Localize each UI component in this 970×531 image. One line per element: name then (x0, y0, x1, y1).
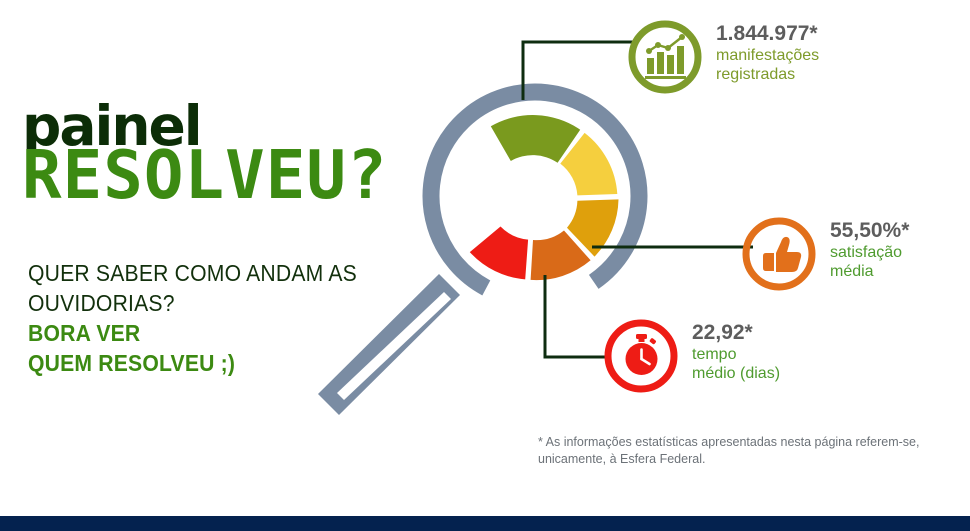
metric-label-manifestacoes-1: manifestações (716, 46, 819, 65)
infographic-canvas: painel RESOLVEU? QUER SABER COMO ANDAM A… (0, 0, 970, 531)
metric-label-satisfacao-2: média (830, 262, 909, 281)
stopwatch-icon (602, 317, 680, 400)
metric-manifestacoes[interactable]: 1.844.977* manifestações registradas (626, 18, 819, 101)
metric-label-tempo-1: tempo (692, 345, 780, 364)
metric-value-tempo: 22,92* (692, 321, 780, 345)
metric-text-tempo: 22,92* tempo médio (dias) (692, 317, 780, 383)
metric-label-satisfacao-1: satisfação (830, 243, 909, 262)
metric-label-manifestacoes-2: registradas (716, 65, 819, 84)
metric-label-tempo-2: médio (dias) (692, 364, 780, 383)
handle-inner-slit (337, 292, 451, 400)
metric-value-manifestacoes: 1.844.977* (716, 22, 819, 46)
metric-text-satisfacao: 55,50%* satisfação média (830, 215, 909, 281)
bar-chart-icon (626, 18, 704, 101)
thumbs-up-icon (740, 215, 818, 298)
bottom-navy-bar (0, 516, 970, 531)
metric-text-manifestacoes: 1.844.977* manifestações registradas (716, 18, 819, 84)
metric-value-satisfacao: 55,50%* (830, 219, 909, 243)
footnote-text: * As informações estatísticas apresentad… (538, 434, 938, 468)
metric-satisfacao[interactable]: 55,50%* satisfação média (740, 215, 909, 298)
metric-tempo[interactable]: 22,92* tempo médio (dias) (602, 317, 780, 400)
